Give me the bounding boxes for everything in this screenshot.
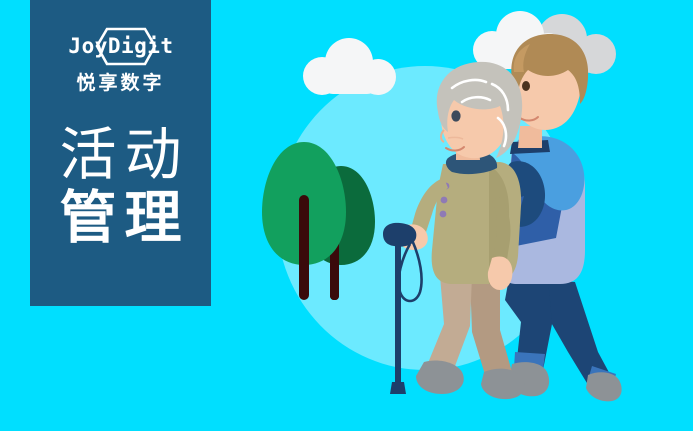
- coat-button: [441, 197, 448, 204]
- elderly-woman-eye: [451, 110, 460, 121]
- coat-button: [440, 211, 447, 218]
- cane-handle: [383, 223, 416, 247]
- cane-tip: [390, 382, 406, 394]
- joydigit-wordmark-text: JoyDigit: [68, 34, 173, 58]
- brand-name-cn: 悦享数字: [45, 72, 197, 94]
- joydigit-logo: JoyDigit: [45, 22, 197, 72]
- elderly-woman-hand-right: [488, 256, 513, 290]
- activity-management-banner: JoyDigit 悦享数字 活动 管理: [0, 0, 693, 431]
- young-man-neck: [518, 126, 542, 148]
- page-title-line-1: 活动: [30, 124, 211, 187]
- page-title-line-2: 管理: [30, 187, 211, 250]
- joydigit-wordmark: JoyDigit: [68, 34, 173, 58]
- page-title: 活动 管理: [30, 124, 211, 250]
- young-man-eye: [522, 81, 530, 91]
- title-panel: JoyDigit 悦享数字 活动 管理: [30, 0, 211, 306]
- brand-lockup: JoyDigit 悦享数字: [45, 22, 197, 108]
- cane-shaft: [395, 240, 401, 388]
